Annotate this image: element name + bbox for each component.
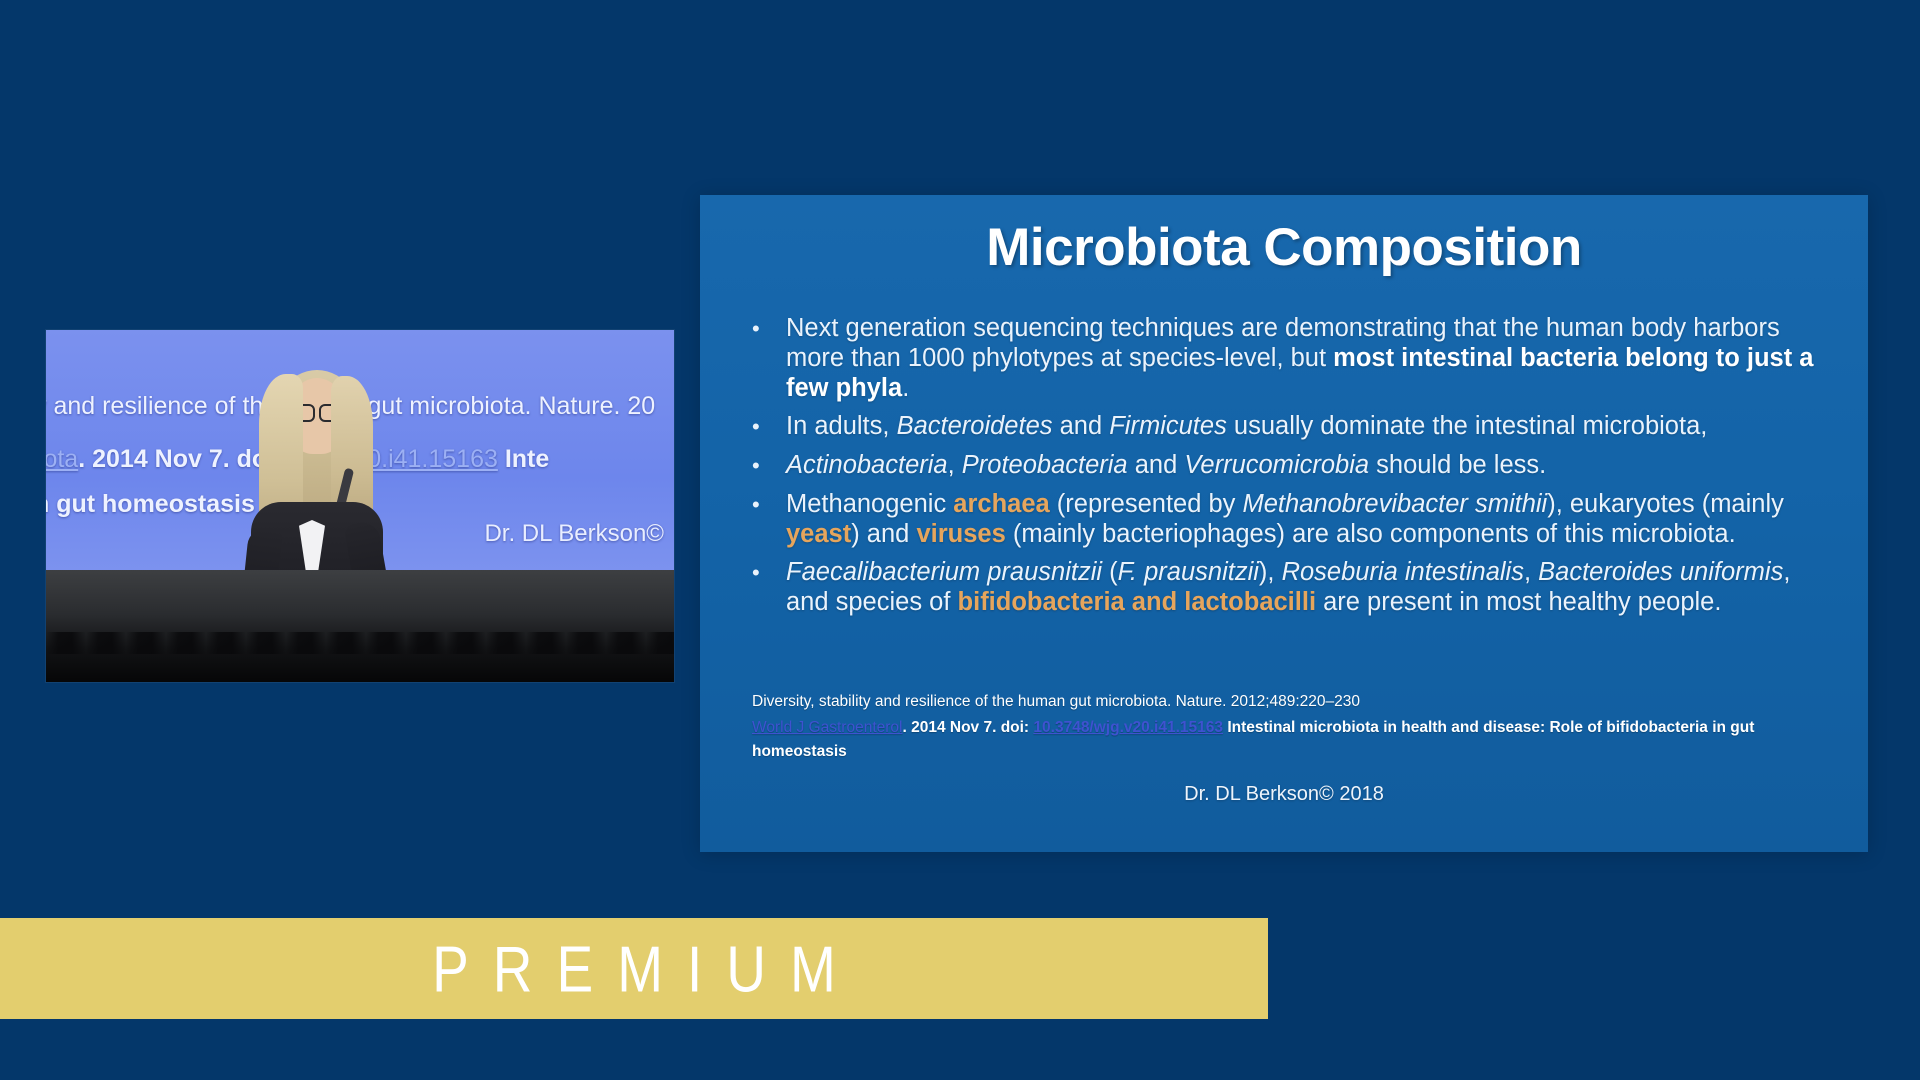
bullet-item: • Methanogenic archaea (represented by M…	[752, 489, 1840, 549]
projected-citation-suffix: Inte	[498, 445, 549, 473]
projected-slide-credit: Dr. DL Berkson©	[484, 520, 664, 548]
slide-citations: Diversity, stability and resilience of t…	[752, 690, 1828, 764]
bullet-marker-icon: •	[752, 450, 786, 481]
projected-link-prefix: biota	[46, 445, 78, 473]
stage-floor	[46, 570, 674, 682]
video-player-stage: y and resilience of the human gut microb…	[0, 0, 1920, 1080]
premium-label: PREMIUM	[408, 931, 860, 1007]
citation-mid: . 2014 Nov 7. doi:	[902, 719, 1033, 736]
slide-bullet-list: • Next generation sequencing techniques …	[752, 313, 1840, 625]
speaker-video-panel[interactable]: y and resilience of the human gut microb…	[46, 330, 674, 682]
bullet-marker-icon: •	[752, 557, 786, 588]
bullet-actinobacteria: Actinobacteria, Proteobacteria and Verru…	[786, 450, 1840, 480]
bullet-marker-icon: •	[752, 411, 786, 442]
journal-link[interactable]: World J Gastroenterol	[752, 719, 902, 736]
stage-floor-lights	[46, 632, 674, 654]
bullet-sequencing: Next generation sequencing techniques ar…	[786, 313, 1840, 403]
citation-nature: Diversity, stability and resilience of t…	[752, 690, 1828, 714]
slide-author-credit: Dr. DL Berkson© 2018	[700, 783, 1868, 806]
doi-link[interactable]: 10.3748/wjg.v20.i41.15163	[1033, 719, 1223, 736]
bullet-item: • Faecalibacterium prausnitzii (F. praus…	[752, 557, 1840, 617]
slide-title: Microbiota Composition	[700, 217, 1868, 278]
bullet-adults: In adults, Bacteroidetes and Firmicutes …	[786, 411, 1840, 441]
bullet-item: • In adults, Bacteroidetes and Firmicute…	[752, 411, 1840, 442]
bullet-item: • Actinobacteria, Proteobacteria and Ver…	[752, 450, 1840, 481]
presentation-slide: Microbiota Composition • Next generation…	[700, 195, 1868, 852]
premium-banner: PREMIUM	[0, 918, 1268, 1019]
citation-wjg: World J Gastroenterol. 2014 Nov 7. doi: …	[752, 716, 1828, 764]
bullet-faecalibacterium: Faecalibacterium prausnitzii (F. prausni…	[786, 557, 1840, 617]
bullet-marker-icon: •	[752, 489, 786, 520]
projected-slide-screen: y and resilience of the human gut microb…	[46, 330, 674, 682]
bullet-methanogenic: Methanogenic archaea (represented by Met…	[786, 489, 1840, 549]
bullet-item: • Next generation sequencing techniques …	[752, 313, 1840, 403]
bullet-marker-icon: •	[752, 313, 786, 344]
